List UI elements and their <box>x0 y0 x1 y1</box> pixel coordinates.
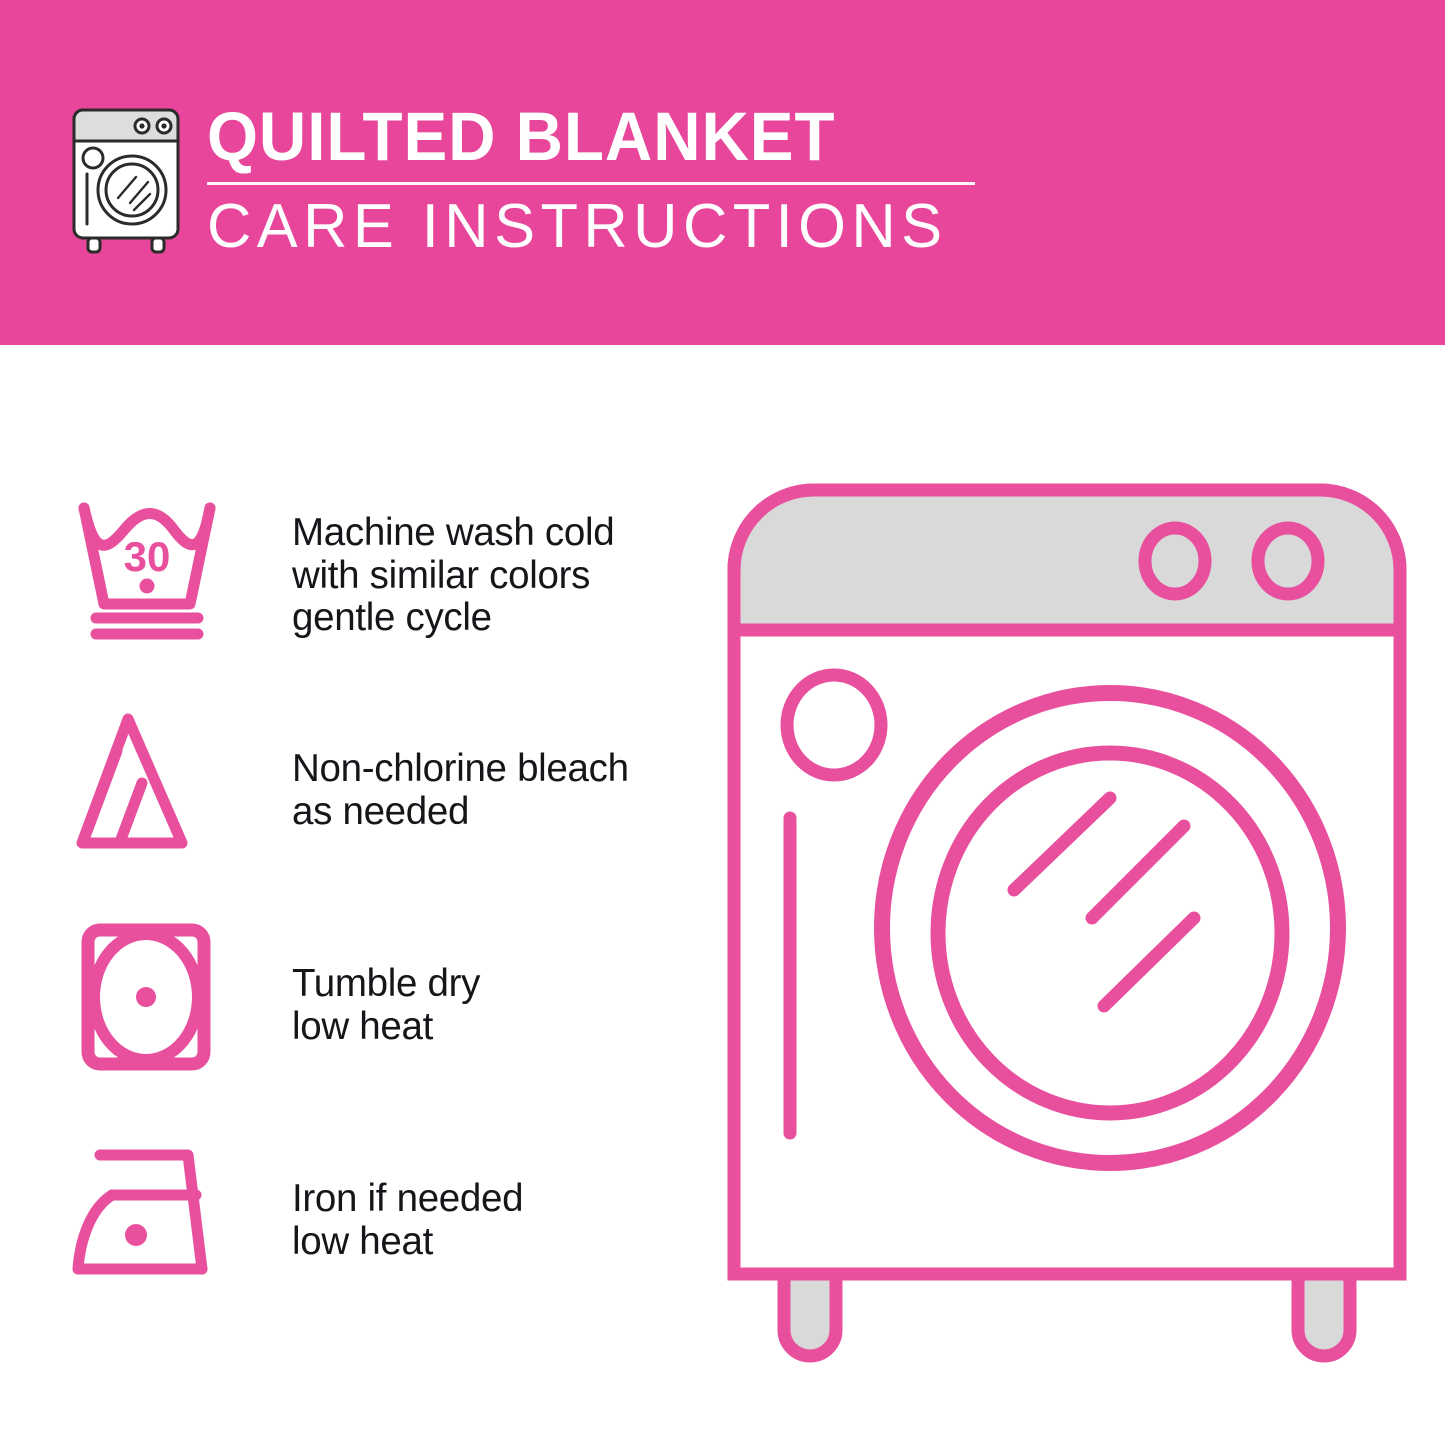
list-item: 30 Machine wash cold with similar colors… <box>70 492 690 707</box>
list-item-label: Non-chlorine bleach as needed <box>292 748 629 833</box>
list-item-label: Iron if needed low heat <box>292 1178 523 1263</box>
page-subtitle: CARE INSTRUCTIONS <box>207 194 989 260</box>
header-title-block: QUILTED BLANKET CARE INSTRUCTIONS <box>207 100 997 260</box>
wash-temperature-label: 30 <box>124 533 171 580</box>
knob-right <box>1258 528 1318 594</box>
washing-machine-icon <box>62 104 190 256</box>
list-item-label: Tumble dry low heat <box>292 963 480 1048</box>
page-title: QUILTED BLANKET <box>207 100 958 174</box>
leg-left <box>784 1274 836 1356</box>
header-band: QUILTED BLANKET CARE INSTRUCTIONS <box>0 0 1445 345</box>
detergent-drawer-knob <box>787 675 881 775</box>
care-instructions-page: QUILTED BLANKET CARE INSTRUCTIONS <box>0 0 1445 1445</box>
front-load-washing-machine-illustration <box>722 478 1412 1363</box>
machine-wash-tub-icon: 30 <box>70 492 235 642</box>
list-item: Iron if needed low heat <box>70 1137 690 1352</box>
list-item: Non-chlorine bleach as needed <box>70 707 690 922</box>
iron-low-heat-icon <box>70 1137 235 1287</box>
list-item-label: Machine wash cold with similar colors ge… <box>292 512 614 640</box>
list-item: Tumble dry low heat <box>70 922 690 1137</box>
leg-right <box>1298 1274 1350 1356</box>
title-divider <box>207 182 975 185</box>
non-chlorine-bleach-triangle-icon <box>70 707 235 857</box>
tumble-dry-square-icon <box>70 922 235 1072</box>
knob-left <box>1145 528 1205 594</box>
care-instructions-list: 30 Machine wash cold with similar colors… <box>70 492 690 1352</box>
